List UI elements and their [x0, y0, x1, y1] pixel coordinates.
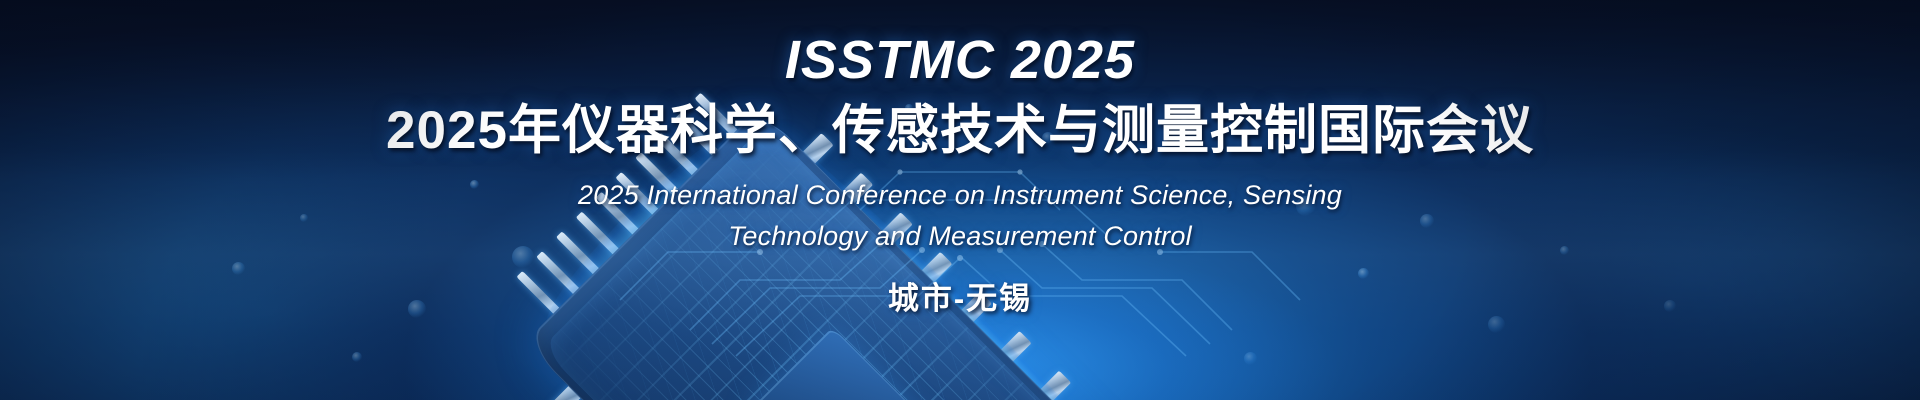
- background-vignette: [0, 0, 1920, 400]
- conference-banner: ISSTMC 2025 2025年仪器科学、传感技术与测量控制国际会议 2025…: [0, 0, 1920, 400]
